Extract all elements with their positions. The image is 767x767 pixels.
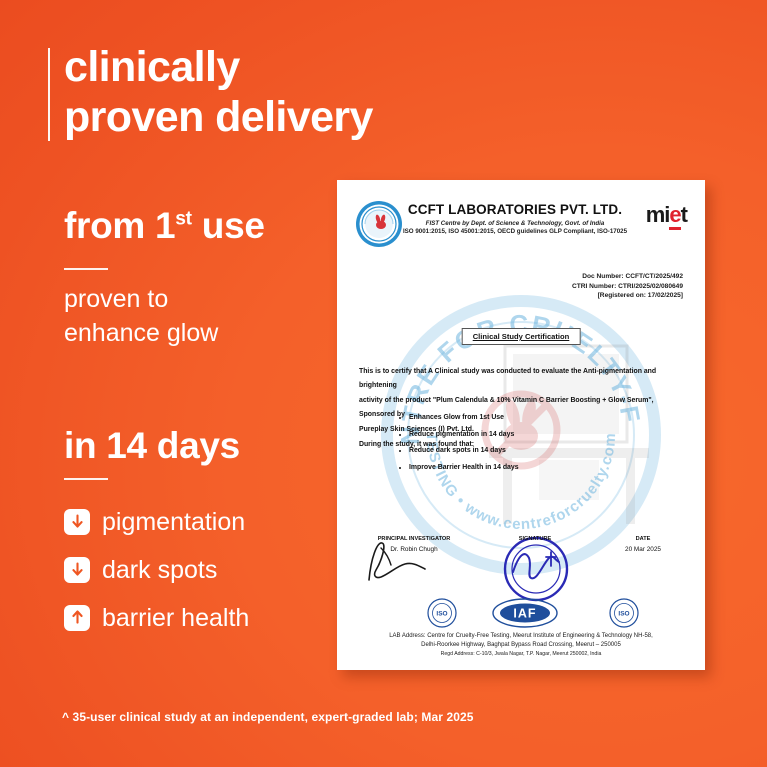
miet-logo-part-2: t [681, 202, 687, 227]
first-use-heading-suffix: use [192, 205, 265, 246]
first-use-description: proven to enhance glow [64, 282, 364, 350]
miet-logo-part-1: mi [646, 202, 670, 227]
list-item: Improve Barrier Health in 14 days [409, 464, 519, 471]
registered-on: [Registered on: 17/02/2025] [572, 291, 683, 301]
study-disclaimer: ^ 35-user clinical study at an independe… [62, 710, 474, 724]
first-use-heading: from 1st use [64, 205, 265, 247]
signature-block: SIGNATURE [497, 536, 573, 542]
lab-subtitle-1: FIST Centre by Dept. of Science & Techno… [399, 220, 631, 227]
svg-text:ISO: ISO [618, 611, 629, 618]
list-item: Enhances Glow from 1st Use [409, 414, 519, 421]
page-title: clinically proven delivery [64, 42, 484, 142]
signature-label: SIGNATURE [497, 536, 573, 542]
miet-logo: miet [646, 204, 687, 226]
svg-text:IAF: IAF [513, 607, 536, 621]
headline-accent-rule [48, 48, 50, 141]
headline-line-1: clinically [64, 42, 484, 92]
arrow-down-icon [64, 509, 90, 535]
list-item: Reduce pigmentation in 14 days [409, 431, 519, 438]
certificate-title-badge: Clinical Study Certification [462, 328, 581, 345]
certificate-header: CCFT LABORATORIES PVT. LTD. FIST Centre … [337, 198, 705, 254]
iso-badge-right-icon: ISO [609, 598, 639, 628]
svg-text:ISO: ISO [436, 611, 447, 618]
list-item: Reduce dark spots in 14 days [409, 447, 519, 454]
arrow-up-icon [64, 605, 90, 631]
benefit-label: barrier health [102, 603, 249, 633]
lab-subtitle-2: ISO 9001:2015, ISO 45001:2015, OECD guid… [399, 228, 631, 235]
ctri-number: CTRI Number: CTRI/2025/02/080649 [572, 282, 683, 292]
promo-banner: clinically proven delivery from 1st use … [0, 0, 767, 767]
document-reference-block: Doc Number: CCFT/CT/2025/492 CTRI Number… [572, 272, 683, 301]
fourteen-days-divider [64, 478, 108, 480]
lab-name: CCFT LABORATORIES PVT. LTD. [399, 202, 631, 217]
lab-address-line-1: LAB Address: Centre for Cruelty-Free Tes… [351, 632, 691, 641]
findings-list: Enhances Glow from 1st Use Reduce pigmen… [395, 414, 519, 480]
certificate-document: CENTRE FOR CRUELTY-FREE TESTING • www.ce… [337, 180, 705, 670]
body-line-1: This is to certify that A Clinical study… [359, 365, 685, 393]
lab-address-line-3: Regd Address: C-10/3, Jwala Nagar, T.P. … [351, 650, 691, 659]
lab-address-block: LAB Address: Centre for Cruelty-Free Tes… [351, 632, 691, 659]
first-use-heading-superscript: st [175, 209, 192, 230]
headline-line-2: proven delivery [64, 92, 484, 142]
list-item: dark spots [64, 546, 364, 594]
first-use-description-line-1: proven to [64, 282, 364, 316]
ccft-seal-icon [355, 200, 403, 248]
signature-stamp-icon [499, 532, 573, 606]
date-label: DATE [605, 536, 681, 542]
benefits-list: pigmentation dark spots barrier health [64, 498, 364, 642]
principal-investigator-name: Dr. Robin Chugh [359, 546, 469, 553]
fourteen-days-heading: in 14 days [64, 425, 240, 467]
benefit-label: pigmentation [102, 507, 245, 537]
signature-row: PRINCIPAL INVESTIGATOR Dr. Robin Chugh S… [337, 536, 705, 606]
first-use-description-line-2: enhance glow [64, 316, 364, 350]
first-use-divider [64, 268, 108, 270]
accreditation-badges: ISO IAF ISO [337, 598, 705, 632]
date-value: 20 Mar 2025 [605, 546, 681, 553]
doc-number: Doc Number: CCFT/CT/2025/492 [572, 272, 683, 282]
iso-badge-left-icon: ISO [427, 598, 457, 628]
date-block: DATE 20 Mar 2025 [605, 536, 681, 553]
list-item: pigmentation [64, 498, 364, 546]
first-use-heading-prefix: from 1 [64, 205, 175, 246]
benefit-label: dark spots [102, 555, 217, 585]
lab-address-line-2: Delhi-Roorkee Highway, Baghpat Bypass Ro… [351, 641, 691, 650]
principal-investigator-block: PRINCIPAL INVESTIGATOR Dr. Robin Chugh [359, 536, 469, 553]
miet-logo-letter-e: e [669, 202, 680, 230]
list-item: barrier health [64, 594, 364, 642]
iaf-badge-icon: IAF [492, 598, 558, 628]
principal-investigator-label: PRINCIPAL INVESTIGATOR [359, 536, 469, 542]
arrow-down-icon [64, 557, 90, 583]
